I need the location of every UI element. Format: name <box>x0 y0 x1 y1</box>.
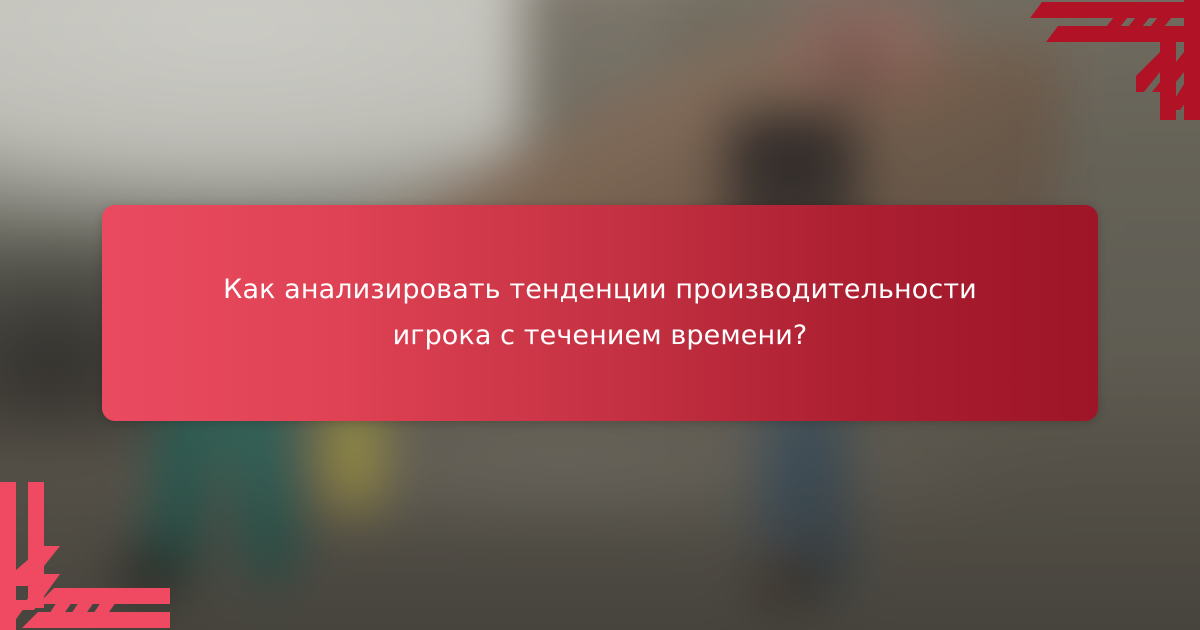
social-card: Как анализировать тенденции производител… <box>0 0 1200 630</box>
headline-banner: Как анализировать тенденции производител… <box>102 205 1098 421</box>
page-title: Как анализировать тенденции производител… <box>200 267 1000 360</box>
corner-ornament-top-right <box>1030 0 1200 120</box>
corner-ornament-bottom-left <box>0 470 170 630</box>
corner-ornament-top-right-shape <box>1030 0 1200 120</box>
corner-ornament-bottom-left-shape <box>0 470 170 630</box>
